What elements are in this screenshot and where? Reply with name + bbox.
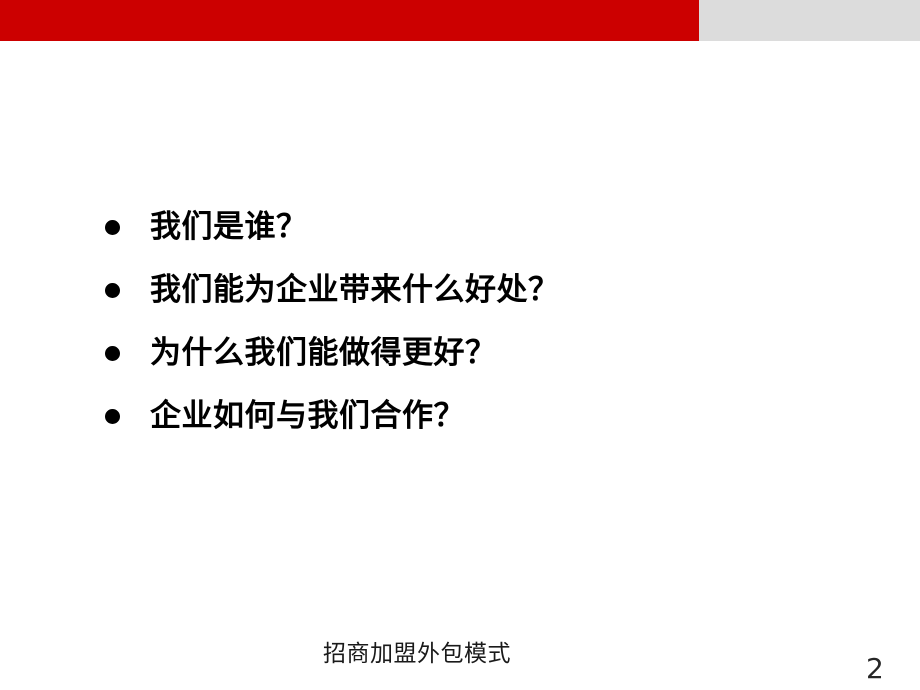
list-item: 我们能为企业带来什么好处？: [0, 259, 920, 322]
footer-note: 招商加盟外包模式: [0, 641, 834, 669]
bullet-dot-icon: [105, 283, 120, 298]
bullet-dot-icon: [105, 220, 120, 235]
header-band-red: [0, 0, 699, 41]
bullet-dot-icon: [105, 346, 120, 361]
bullet-list: 我们是谁？ 我们能为企业带来什么好处？ 为什么我们能做得更好？ 企业如何与我们合…: [0, 196, 920, 448]
page-number: 2: [866, 655, 906, 683]
bullet-item-label: 为什么我们能做得更好？: [150, 338, 497, 369]
slide-canvas: 我们是谁？ 我们能为企业带来什么好处？ 为什么我们能做得更好？ 企业如何与我们合…: [0, 0, 920, 690]
list-item: 企业如何与我们合作？: [0, 385, 920, 448]
header-decoration-bar: [0, 0, 920, 41]
bullet-dot-icon: [105, 409, 120, 424]
bullet-item-label: 我们能为企业带来什么好处？: [150, 275, 560, 306]
list-item: 为什么我们能做得更好？: [0, 322, 920, 385]
header-band-gray: [699, 0, 920, 41]
bullet-item-label: 我们是谁？: [150, 212, 308, 243]
bullet-item-label: 企业如何与我们合作？: [150, 401, 465, 432]
list-item: 我们是谁？: [0, 196, 920, 259]
